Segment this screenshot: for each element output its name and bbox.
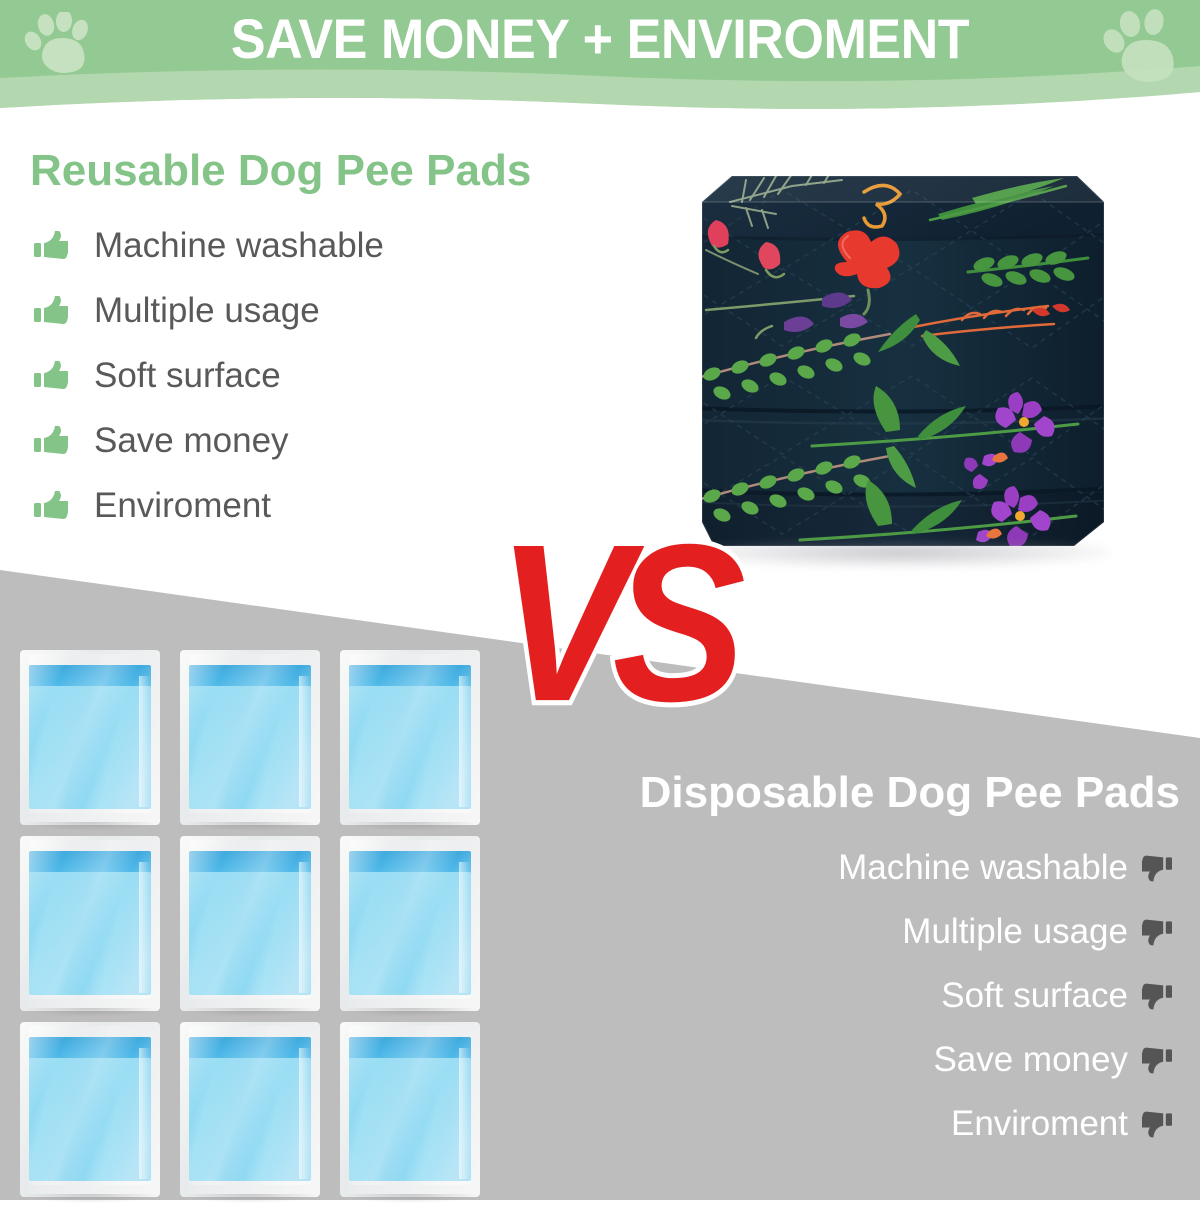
list-item: Multiple usage: [560, 900, 1180, 964]
list-item: Machine washable: [34, 213, 504, 278]
pad-pack: [340, 1022, 480, 1197]
list-item: Save money: [34, 408, 504, 473]
list-item: Save money: [560, 1028, 1180, 1092]
list-item-label: Save money: [933, 1040, 1142, 1080]
pad-pack: [20, 1022, 160, 1197]
list-item: Soft surface: [560, 964, 1180, 1028]
thumbs-down-icon: [1142, 982, 1180, 1010]
list-item-label: Soft surface: [80, 356, 281, 396]
thumbs-down-icon: [1142, 1046, 1180, 1074]
reusable-feature-list: Machine washable Multiple usage Soft sur…: [34, 213, 504, 538]
thumbs-up-icon: [34, 231, 80, 261]
list-item-label: Multiple usage: [80, 291, 320, 331]
list-item-label: Save money: [80, 421, 289, 461]
versus-badge: VS: [497, 512, 728, 736]
infographic-canvas: SAVE MONEY + ENVIROMENT Reusable Dog Pee…: [0, 0, 1200, 1200]
list-item: Machine washable: [560, 836, 1180, 900]
list-item-label: Multiple usage: [902, 912, 1142, 952]
disposable-pads-image: [12, 640, 492, 1220]
list-item: Enviroment: [560, 1092, 1180, 1156]
list-item: Multiple usage: [34, 278, 504, 343]
disposable-feature-list: Machine washable Multiple usage Soft sur…: [560, 836, 1180, 1156]
pad-pack: [180, 1022, 320, 1197]
thumbs-up-icon: [34, 361, 80, 391]
thumbs-up-icon: [34, 491, 80, 521]
reusable-section-title: Reusable Dog Pee Pads: [30, 146, 531, 196]
list-item-label: Enviroment: [951, 1104, 1142, 1144]
list-item-label: Soft surface: [941, 976, 1142, 1016]
pad-pack: [340, 836, 480, 1011]
header-banner: SAVE MONEY + ENVIROMENT: [0, 0, 1200, 120]
thumbs-up-icon: [34, 426, 80, 456]
list-item: Enviroment: [34, 473, 504, 538]
banner-title: SAVE MONEY + ENVIROMENT: [42, 8, 1158, 70]
pad-pack: [180, 836, 320, 1011]
thumbs-down-icon: [1142, 854, 1180, 882]
reusable-pad-product-image: [672, 150, 1122, 570]
thumbs-up-icon: [34, 296, 80, 326]
list-item: Soft surface: [34, 343, 504, 408]
list-item-label: Enviroment: [80, 486, 271, 526]
list-item-label: Machine washable: [838, 848, 1142, 888]
list-item-label: Machine washable: [80, 226, 384, 266]
disposable-section-title: Disposable Dog Pee Pads: [0, 768, 1180, 818]
pad-pack: [20, 836, 160, 1011]
product-shadow: [690, 542, 1110, 568]
thumbs-down-icon: [1142, 1110, 1180, 1138]
thumbs-down-icon: [1142, 918, 1180, 946]
